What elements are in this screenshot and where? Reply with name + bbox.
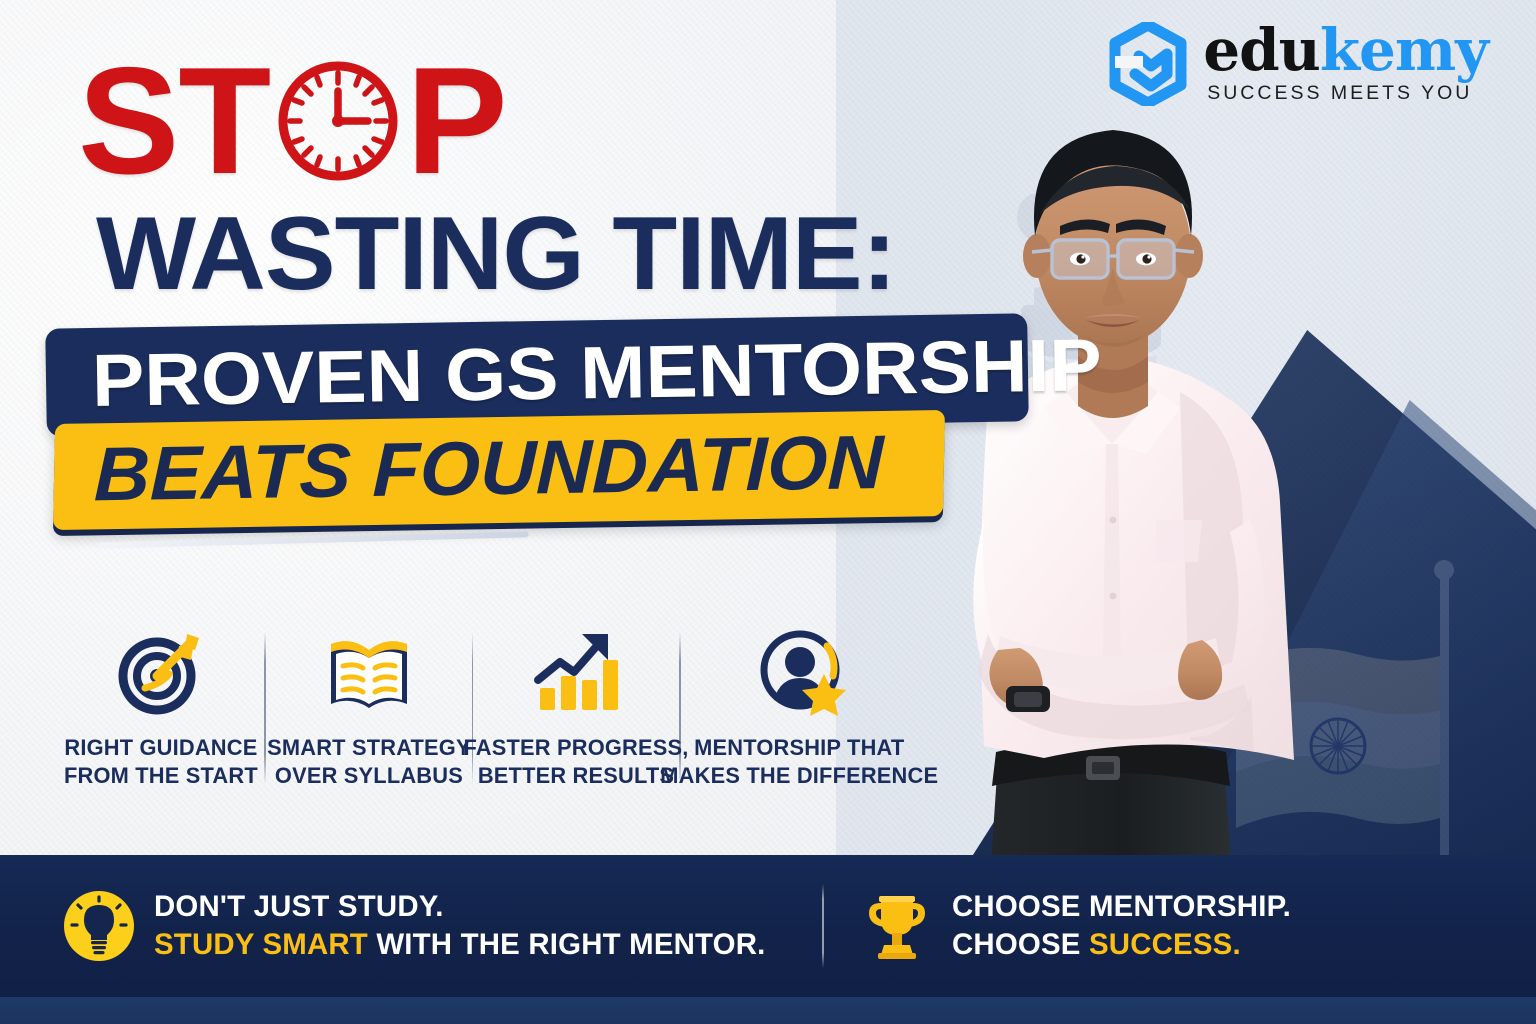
cta-study-smart: DON'T JUST STUDY. STUDY SMART WITH THE R… (62, 888, 778, 964)
headline-line-stop: ST (78, 46, 1038, 196)
feature-label-line1: SMART STRATEGY (267, 734, 471, 762)
lightbulb-icon (62, 889, 136, 963)
logo-tagline: SUCCESS MEETS YOU (1207, 82, 1472, 105)
headline-line-wasting-time: WASTING TIME: (96, 200, 1057, 309)
feature-row: RIGHT GUIDANCE FROM THE START (58, 626, 919, 790)
edukemy-logo[interactable]: edukemy SUCCESS MEETS YOU (1109, 22, 1488, 106)
feature-label: SMART STRATEGY OVER SYLLABUS (267, 734, 471, 790)
cta-line2: CHOOSE SUCCESS. (952, 926, 1291, 964)
headline-underline-accent (99, 531, 529, 548)
headline-stop-prefix: ST (78, 45, 270, 197)
feature-label-line2: FROM THE START (64, 762, 258, 790)
feature-label-line2: BETTER RESULTS (463, 762, 688, 790)
feature-item-faster-progress: FASTER PROGRESS, BETTER RESULTS (473, 626, 679, 790)
feature-item-smart-strategy: SMART STRATEGY OVER SYLLABUS (266, 626, 472, 790)
cta-line2-highlight: SUCCESS. (1089, 928, 1241, 961)
feature-label-line2: MAKES THE DIFFERENCE (661, 762, 939, 790)
feature-label: MENTORSHIP THAT MAKES THE DIFFERENCE (661, 734, 939, 790)
mentor-person-star-icon (754, 626, 846, 718)
cta-line2-highlight: STUDY SMART (154, 928, 368, 961)
bottom-base-strip (0, 997, 1536, 1024)
headline-line-beats-foundation: BEATS FOUNDATION (93, 424, 933, 513)
clock-icon (272, 55, 404, 187)
trophy-icon (860, 889, 934, 963)
headline-yellow-slab: BEATS FOUNDATION (53, 410, 945, 530)
headline-line-proven-gs-mentorship: PROVEN GS MENTORSHIP (91, 329, 1052, 418)
cta-line2-plain: CHOOSE (952, 928, 1089, 961)
open-book-icon (323, 626, 415, 718)
cta-line1: CHOOSE MENTORSHIP. (952, 888, 1291, 926)
feature-label-line2: OVER SYLLABUS (267, 762, 471, 790)
cta-line2: STUDY SMART WITH THE RIGHT MENTOR. (154, 926, 766, 964)
cta-text: DON'T JUST STUDY. STUDY SMART WITH THE R… (154, 888, 766, 964)
target-dart-icon (115, 626, 207, 718)
edukemy-hexagon-e-icon (1109, 22, 1187, 106)
cta-line1: DON'T JUST STUDY. (154, 888, 766, 926)
headline-block: ST (78, 46, 1038, 523)
cta-choose-success: CHOOSE MENTORSHIP. CHOOSE SUCCESS. (860, 888, 1298, 964)
bottom-cta-bar: DON'T JUST STUDY. STUDY SMART WITH THE R… (0, 855, 1536, 997)
feature-label: RIGHT GUIDANCE FROM THE START (64, 734, 258, 790)
feature-item-right-guidance: RIGHT GUIDANCE FROM THE START (58, 626, 264, 790)
growth-chart-icon (530, 626, 622, 718)
cta-text: CHOOSE MENTORSHIP. CHOOSE SUCCESS. (952, 888, 1291, 964)
feature-label: FASTER PROGRESS, BETTER RESULTS (463, 734, 688, 790)
feature-item-mentorship-difference: MENTORSHIP THAT MAKES THE DIFFERENCE (681, 626, 919, 790)
logo-wordmark: edukemy SUCCESS MEETS YOU (1203, 23, 1488, 105)
cta-divider (822, 884, 824, 968)
cta-line2-rest: WITH THE RIGHT MENTOR. (368, 928, 766, 961)
logo-name-kemy: kemy (1320, 16, 1488, 84)
feature-label-line1: MENTORSHIP THAT (661, 734, 939, 762)
feature-label-line1: FASTER PROGRESS, (463, 734, 688, 762)
feature-label-line1: RIGHT GUIDANCE (64, 734, 258, 762)
promotional-banner: edukemy SUCCESS MEETS YOU ST (0, 0, 1536, 1024)
logo-name: edukemy (1203, 23, 1488, 79)
headline-stop-suffix: P (406, 45, 506, 197)
logo-name-edu: edu (1203, 16, 1320, 84)
